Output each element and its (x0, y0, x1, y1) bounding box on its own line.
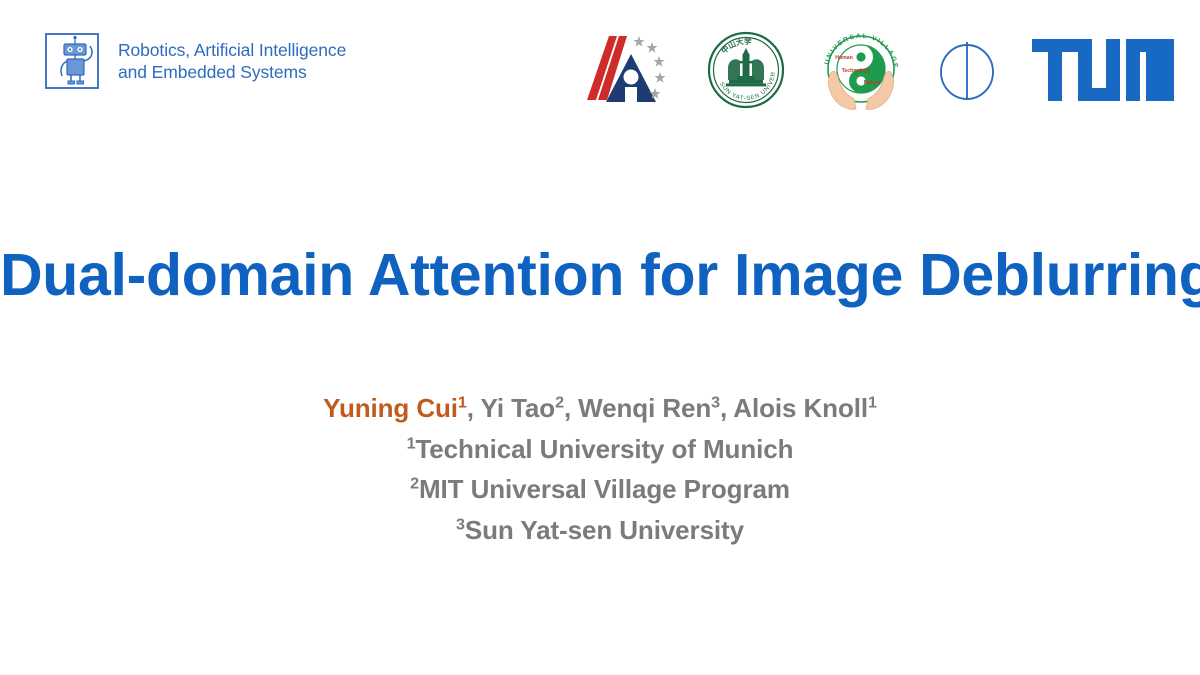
author-first-sup: 1 (458, 393, 467, 411)
association-a-logo (584, 24, 672, 116)
author-names-line: Yuning Cui1, Yi Tao2, Wenqi Ren3, Alois … (0, 388, 1200, 429)
author-fourth-sup: 1 (868, 393, 877, 411)
author-block: Yuning Cui1, Yi Tao2, Wenqi Ren3, Alois … (0, 388, 1200, 550)
author-second-sup: 2 (555, 393, 564, 411)
affiliation-1-text: Technical University of Munich (415, 434, 793, 464)
author-second: , Yi Tao (467, 393, 555, 423)
raies-text-line-1: Robotics, Artificial Intelligence (118, 40, 346, 60)
affiliation-3-text: Sun Yat-sen University (465, 515, 744, 545)
universal-village-logo: Human Technology Nature UNIVERSAL VILLAG… (820, 24, 902, 116)
yin-yang-hands-icon: Human Technology Nature UNIVERSAL VILLAG… (820, 27, 902, 113)
affiliation-1: 1Technical University of Munich (0, 429, 1200, 470)
tum-wordmark-icon (1032, 39, 1174, 101)
affiliation-2-sup: 2 (410, 474, 419, 492)
tum-logo (1032, 24, 1174, 116)
title-slide: Robotics, Artificial Intelligenceand Emb… (0, 0, 1200, 675)
circle-line-icon (936, 36, 998, 104)
university-seal-icon: 中山大学 SUN YAT-SEN UNIVERSITY (706, 30, 786, 110)
author-third: , Wenqi Ren (564, 393, 711, 423)
red-stripes-a-star-icon (584, 30, 672, 110)
raies-logo: Robotics, Artificial Intelligenceand Emb… (44, 30, 346, 92)
author-first: Yuning Cui (323, 393, 458, 423)
author-fourth: , Alois Knoll (720, 393, 868, 423)
svg-text:Technology: Technology (842, 68, 871, 74)
affiliation-3-sup: 3 (456, 515, 465, 533)
robot-icon (44, 30, 106, 92)
raies-text-line-2: and Embedded Systems (118, 62, 307, 82)
sun-yat-sen-university-seal: 中山大学 SUN YAT-SEN UNIVERSITY (706, 24, 786, 116)
mit-universal-village-circle-logo (936, 24, 998, 116)
author-third-sup: 3 (711, 393, 720, 411)
affiliation-3: 3Sun Yat-sen University (0, 510, 1200, 551)
svg-text:Human: Human (835, 55, 853, 61)
raies-logo-text: Robotics, Artificial Intelligenceand Emb… (118, 39, 346, 84)
affiliation-2-text: MIT Universal Village Program (419, 474, 790, 504)
page-title: Dual-domain Attention for Image Deblurri… (0, 243, 1200, 308)
logo-bar: Robotics, Artificial Intelligenceand Emb… (0, 0, 1200, 140)
partner-logo-row: 中山大学 SUN YAT-SEN UNIVERSITY (584, 24, 1174, 116)
affiliation-2: 2MIT Universal Village Program (0, 469, 1200, 510)
svg-text:Nature: Nature (864, 80, 881, 86)
